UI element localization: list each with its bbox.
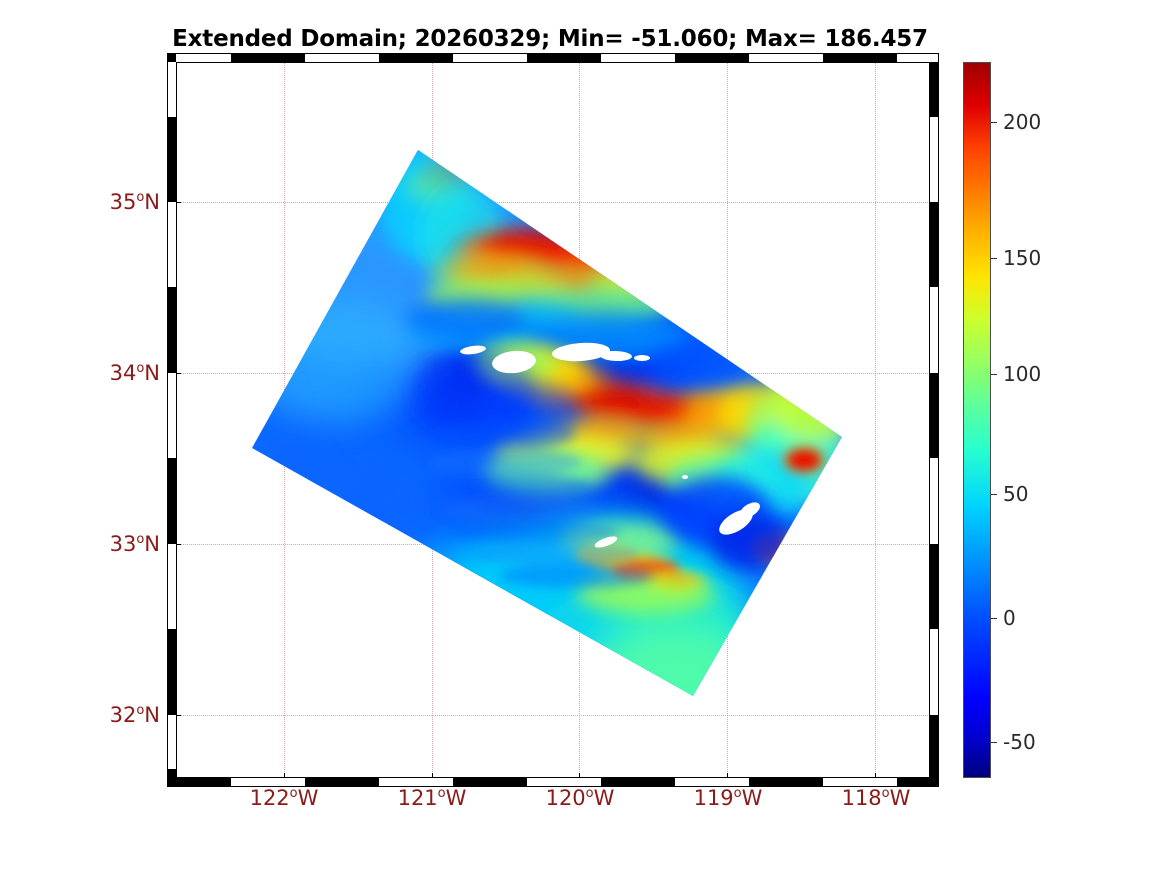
colorbar-label-150: 150 <box>1003 246 1041 270</box>
lon-label-119: 119oW <box>648 786 808 810</box>
colorbar[interactable]: 200 150 100 50 0 -50 <box>963 62 991 778</box>
ytick-34 <box>176 373 181 374</box>
colorbar-tick-0 <box>991 618 997 619</box>
plot-title: Extended Domain; 20260329; Min= -51.060;… <box>0 26 1100 52</box>
lat-label-34: 34oN <box>55 361 160 385</box>
colorbar-tick-100 <box>991 374 997 375</box>
colorbar-label-200: 200 <box>1003 110 1041 134</box>
island-santa-barbara <box>682 475 688 479</box>
ytick-33 <box>176 544 181 545</box>
colorbar-tick-150 <box>991 258 997 259</box>
map-frame-left <box>167 53 176 787</box>
colorbar-label-0: 0 <box>1003 606 1016 630</box>
heatmap-data-field <box>176 62 930 778</box>
colorbar-gradient <box>963 62 991 778</box>
lon-label-121: 121oW <box>352 786 512 810</box>
figure-canvas: Extended Domain; 20260329; Min= -51.060;… <box>0 0 1167 875</box>
colorbar-tick-neg50 <box>991 742 997 743</box>
colorbar-label-neg50: -50 <box>1003 730 1036 754</box>
lon-label-122: 122oW <box>204 786 364 810</box>
ytick-32 <box>176 715 181 716</box>
island-anacapa <box>634 355 650 361</box>
colorbar-label-50: 50 <box>1003 482 1028 506</box>
colorbar-label-100: 100 <box>1003 362 1041 386</box>
map-frame-right <box>930 53 939 787</box>
lon-label-120: 120oW <box>500 786 660 810</box>
lon-label-118: 118oW <box>796 786 956 810</box>
lat-label-35: 35oN <box>55 190 160 214</box>
colorbar-tick-200 <box>991 122 997 123</box>
ytick-35 <box>176 202 181 203</box>
swath-raster <box>176 62 930 778</box>
lat-label-33: 33oN <box>55 532 160 556</box>
map-axes[interactable] <box>176 62 930 778</box>
map-frame-bottom <box>167 778 939 787</box>
map-frame-top <box>167 53 939 62</box>
colorbar-tick-50 <box>991 494 997 495</box>
lat-label-32: 32oN <box>55 703 160 727</box>
